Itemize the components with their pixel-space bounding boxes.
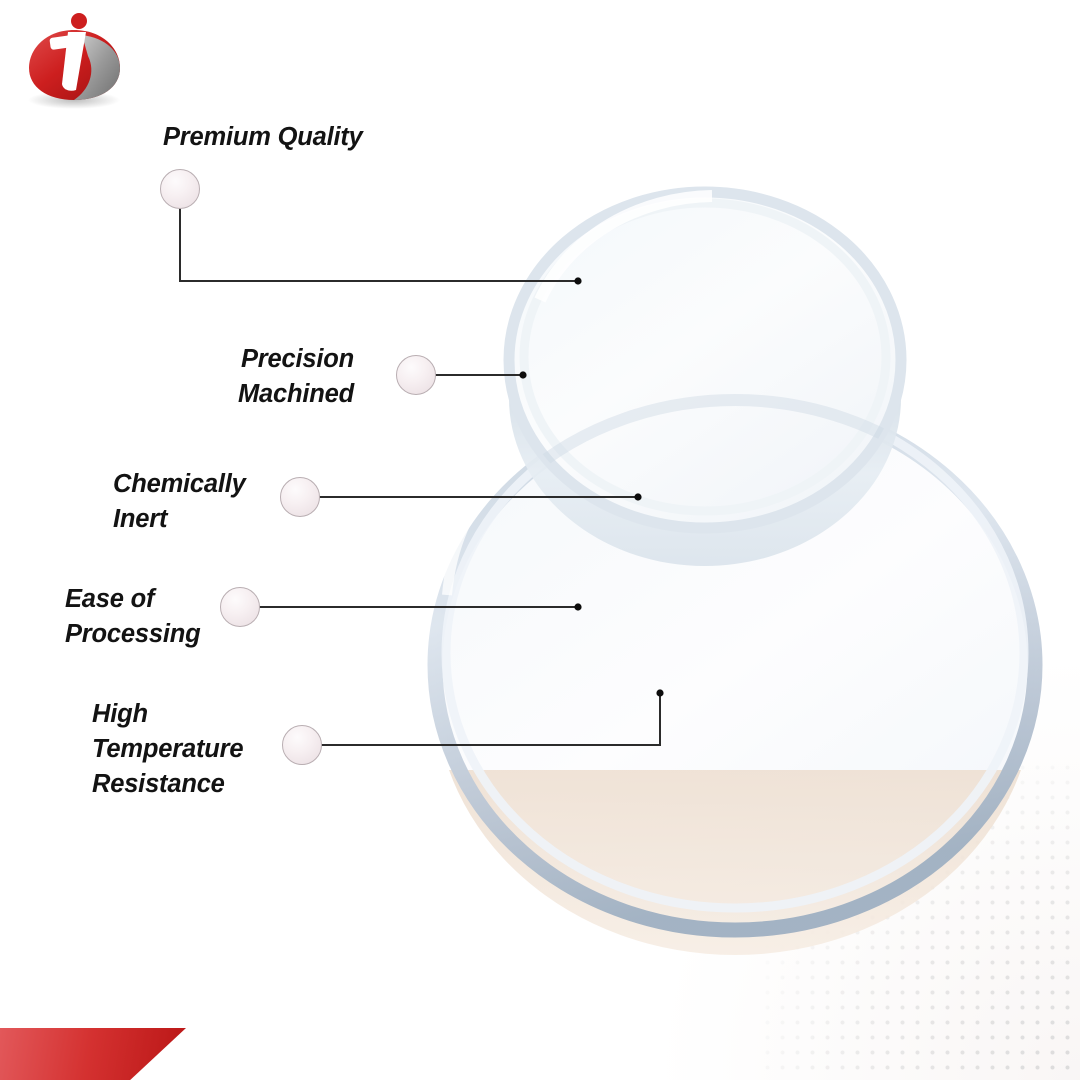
feature-label-premium-quality: Premium Quality [163, 120, 363, 155]
connector-lines [0, 0, 1080, 1080]
infographic-canvas: Premium Quality Precision Machined Chemi… [0, 0, 1080, 1080]
feature-label-ease-of-processing: Ease of Processing [65, 582, 200, 652]
feature-label-chemically-inert: Chemically Inert [113, 467, 246, 537]
feature-node-chemically-inert[interactable] [280, 477, 320, 517]
connector-high-temperature [322, 693, 660, 745]
connector-endpoint-dots [519, 277, 663, 696]
feature-node-precision-machined[interactable] [396, 355, 436, 395]
feature-label-precision-machined: Precision Machined [238, 342, 354, 412]
feature-node-premium-quality[interactable] [160, 169, 200, 209]
feature-node-ease-of-processing[interactable] [220, 587, 260, 627]
connector-premium-quality [180, 209, 578, 281]
feature-label-high-temperature-resistance: High Temperature Resistance [92, 697, 243, 802]
feature-node-high-temperature-resistance[interactable] [282, 725, 322, 765]
